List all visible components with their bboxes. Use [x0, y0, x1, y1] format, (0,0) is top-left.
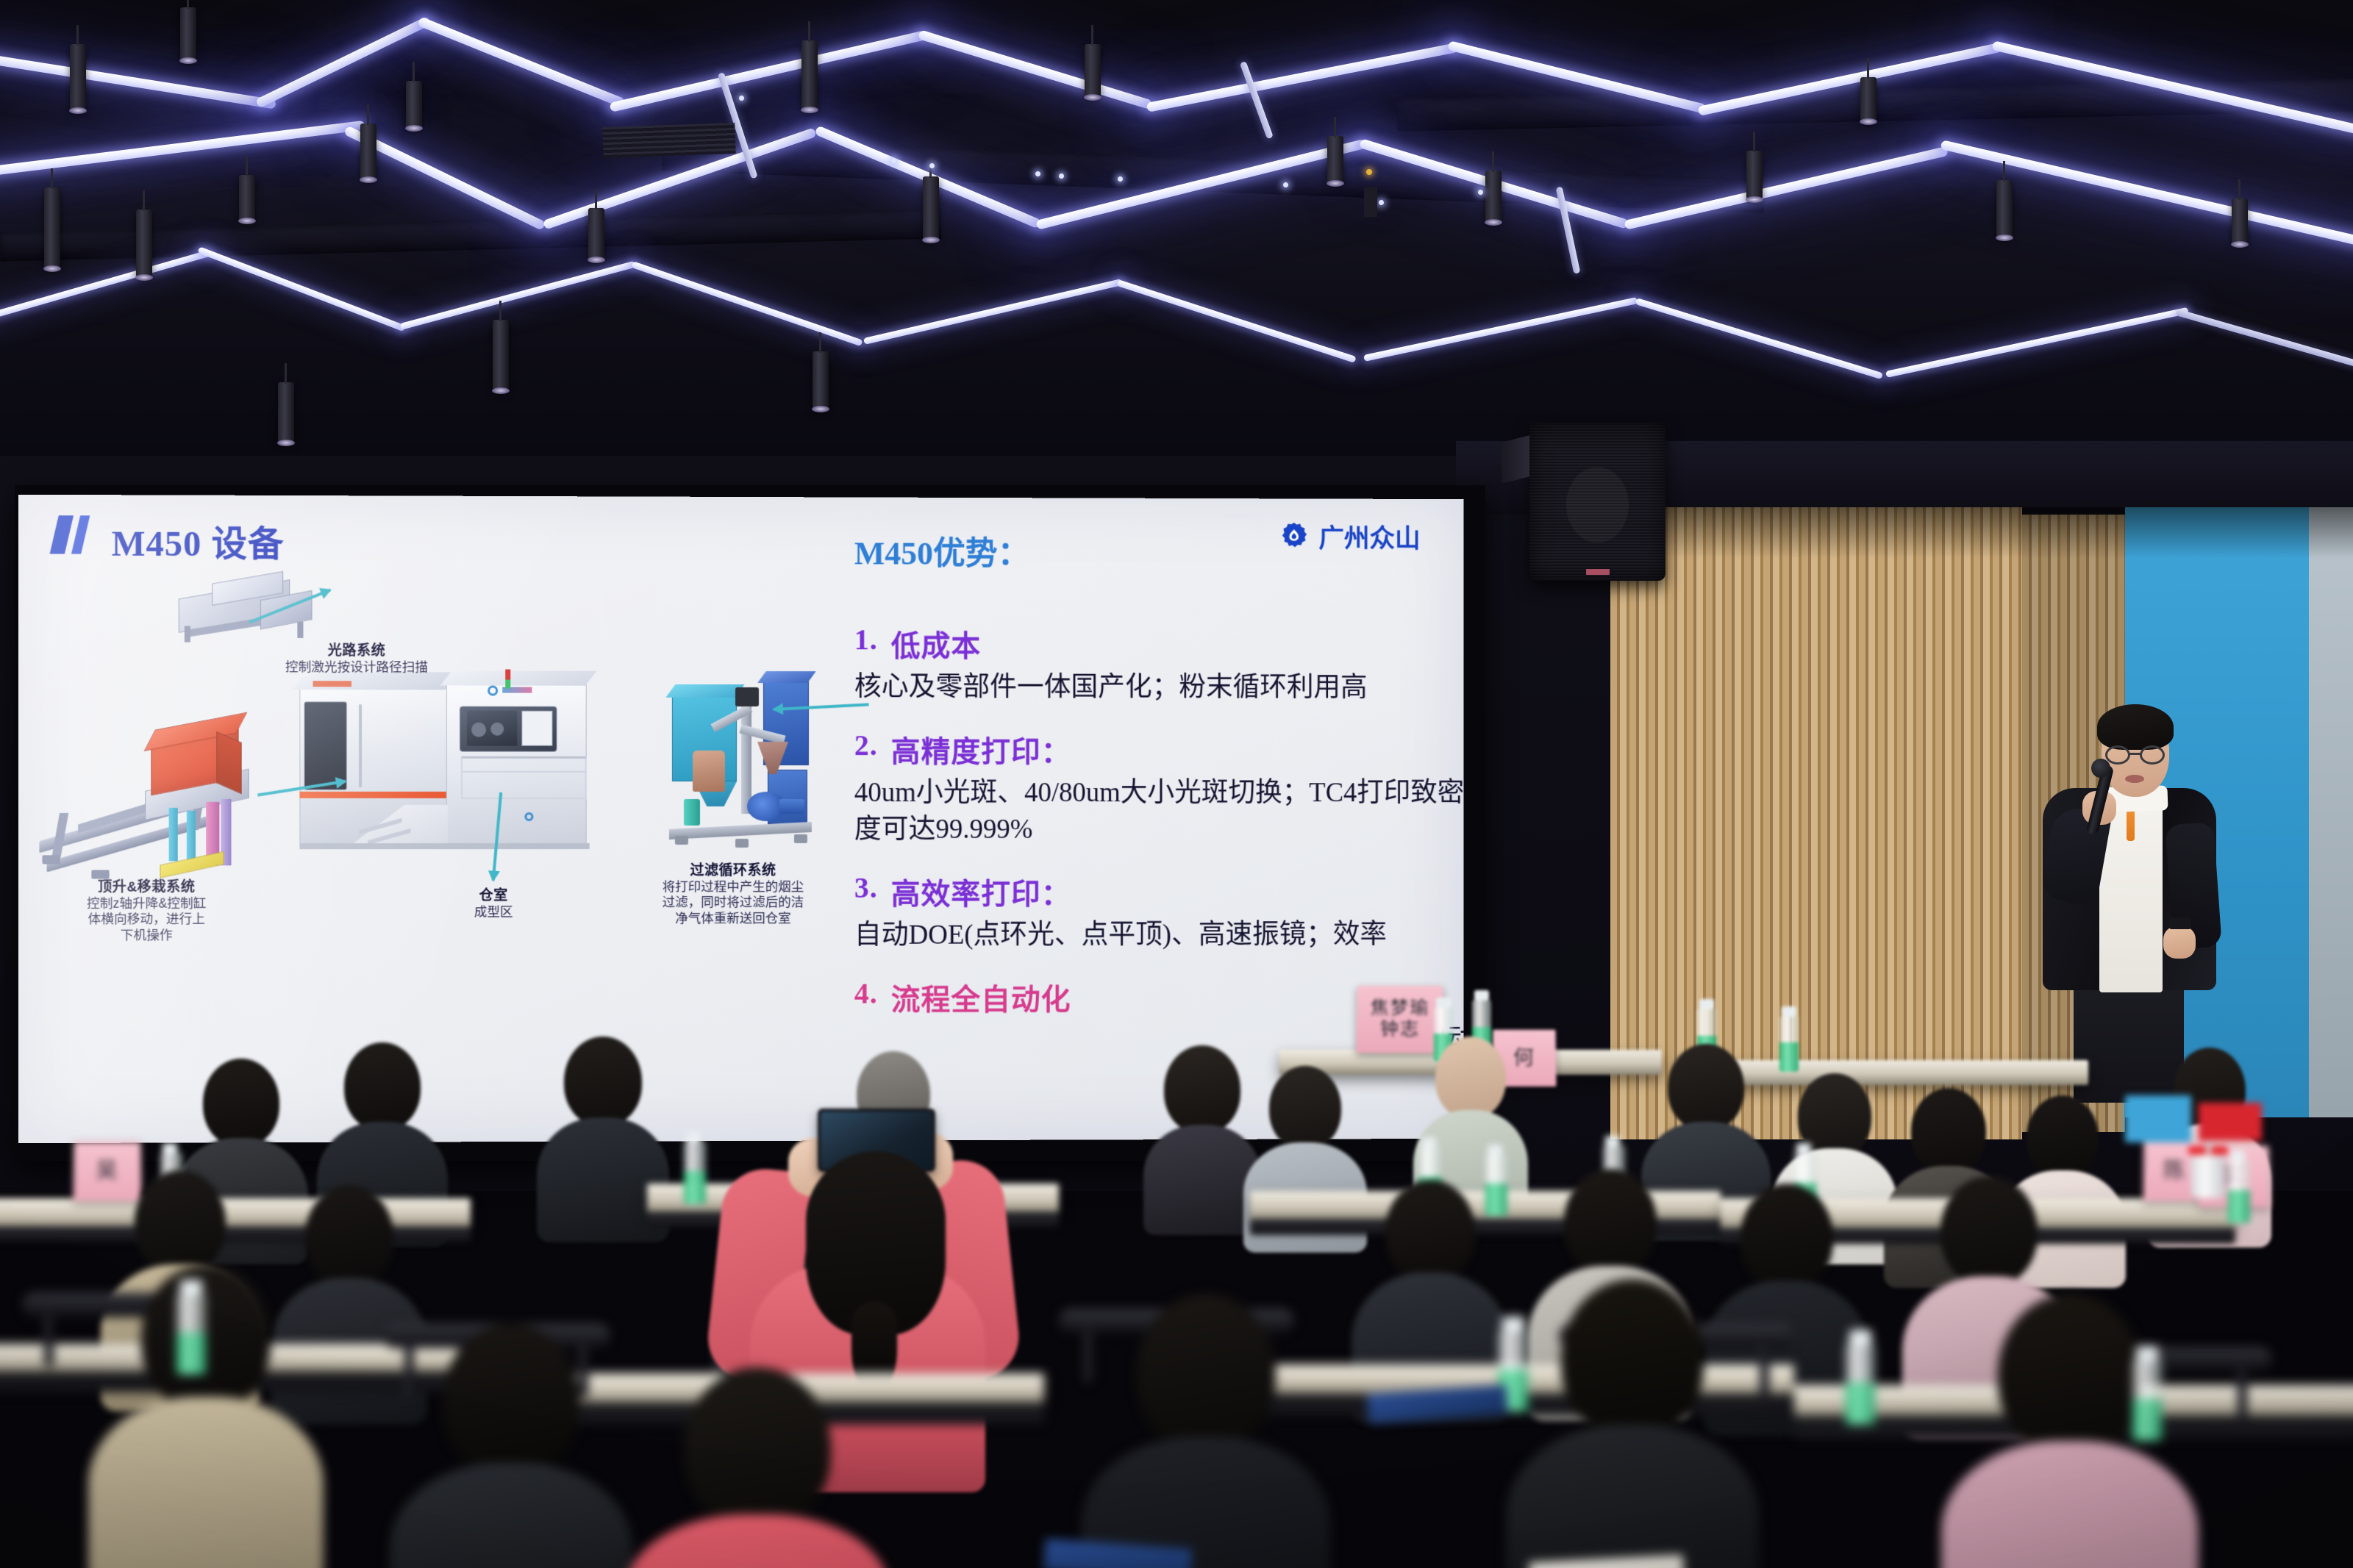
eyeglasses-right-lens	[2140, 745, 2165, 765]
paper-cup	[2191, 1153, 2225, 1198]
spotlight	[406, 81, 422, 128]
advantage-item-2: 2. 高精度打印： 40um小光斑、40/80um大小光斑切换；TC4打印致密度…	[854, 728, 1464, 848]
spotlight	[44, 187, 60, 268]
presenter-hair	[2097, 704, 2174, 750]
led-strip	[1885, 307, 2189, 378]
spotlight	[813, 351, 829, 409]
led-strip	[255, 16, 431, 109]
slide-title: M450 设备	[112, 514, 285, 566]
cad-main-machine	[299, 660, 624, 881]
spotlight	[278, 382, 294, 443]
led-strip	[418, 16, 626, 107]
led-strip	[610, 30, 927, 112]
spotlight	[1085, 44, 1101, 97]
eyeglasses-bridge	[2129, 753, 2141, 755]
water-bottle	[1779, 1016, 1799, 1072]
presenter-mouth	[2125, 775, 2144, 783]
ceiling-soffit	[662, 137, 1765, 213]
slide-title-marker	[54, 515, 86, 554]
wall-loudspeaker	[1529, 423, 1665, 581]
item-body: 40um小光斑、40/80um大小光斑切换；TC4打印致密度可达99.999%	[854, 775, 1464, 848]
audience-member	[1088, 1294, 1324, 1568]
audience-member	[1147, 1045, 1257, 1214]
speaker-bracket	[1502, 435, 1529, 483]
name-card-line: 陈	[2163, 1159, 2187, 1184]
spotlight	[1996, 180, 2013, 237]
spotlight	[1327, 136, 1343, 183]
led-strip	[2176, 309, 2353, 372]
advantages-heading: M450优势：	[854, 526, 1464, 575]
audience-member	[1515, 1279, 1750, 1568]
water-bottle	[1846, 1344, 1875, 1425]
led-strip	[632, 261, 863, 346]
item-heading: 高精度打印：	[891, 728, 1071, 770]
led-strip	[400, 261, 636, 330]
spotlight	[801, 40, 818, 110]
spotlight	[136, 210, 152, 277]
table-sign	[2125, 1095, 2191, 1142]
ceiling	[0, 0, 2353, 485]
spotlight	[588, 208, 604, 259]
water-bottle	[176, 1294, 206, 1375]
table-sign	[2199, 1103, 2262, 1141]
item-number: 1.	[854, 622, 878, 665]
led-strip	[918, 29, 1152, 110]
audience-member	[397, 1323, 625, 1568]
spotlight	[70, 44, 86, 110]
spotlight	[1746, 151, 1763, 199]
led-strip	[0, 51, 276, 110]
spotlight	[239, 175, 255, 221]
spotlight	[2232, 198, 2248, 244]
cad-filter-system	[665, 662, 819, 853]
audience-member	[544, 1037, 662, 1220]
ceiling-rigging	[1364, 187, 1377, 217]
diagram-label-optical: 光路系统 控制激光按设计路径扫描	[235, 640, 479, 676]
water-bottle	[2132, 1360, 2162, 1441]
audience-member	[96, 1264, 316, 1568]
water-bottle	[2228, 1160, 2250, 1223]
conference-hall-photo: M450 设备 广州众山	[0, 0, 2353, 1568]
diagram-label-desc: 控制激光按设计路径扫描	[235, 659, 479, 676]
audience-area: 焦梦瑜 钟志 何	[0, 853, 2353, 1568]
audience-member	[632, 1367, 882, 1568]
speaker-badge	[1586, 569, 1610, 575]
item-body: 核心及零部件一体国产化；粉末循环利用高	[854, 669, 1464, 706]
ceiling-vent	[602, 123, 735, 158]
name-card-line: 焦梦瑜	[1370, 998, 1429, 1019]
led-strip	[1240, 61, 1274, 139]
spotlight	[923, 176, 939, 240]
spotlight	[360, 123, 376, 179]
spotlight	[180, 7, 196, 60]
led-strip	[1635, 298, 1883, 379]
spotlight	[1860, 77, 1877, 121]
microphone-capsule	[2091, 759, 2110, 778]
diagram-label-title: 光路系统	[235, 640, 479, 660]
spotlight	[1485, 171, 1502, 222]
item-heading: 低成本	[891, 622, 982, 665]
led-strip	[0, 121, 365, 180]
led-strip	[1117, 279, 1357, 363]
led-strip	[197, 246, 405, 332]
advantage-item-1: 1. 低成本 核心及零部件一体国产化；粉末循环利用高	[854, 622, 1464, 706]
item-number: 2.	[854, 728, 878, 770]
rigging-indicator	[1366, 169, 1372, 175]
led-strip	[863, 279, 1123, 345]
ceiling-band	[0, 0, 2353, 29]
name-card-line: 钟志	[1380, 1019, 1420, 1040]
eyeglasses-left-lens	[2105, 745, 2130, 765]
water-bottle	[684, 1141, 706, 1204]
wall-shadow	[1610, 507, 2353, 559]
spotlight	[493, 320, 509, 390]
led-strip	[1363, 297, 1638, 362]
